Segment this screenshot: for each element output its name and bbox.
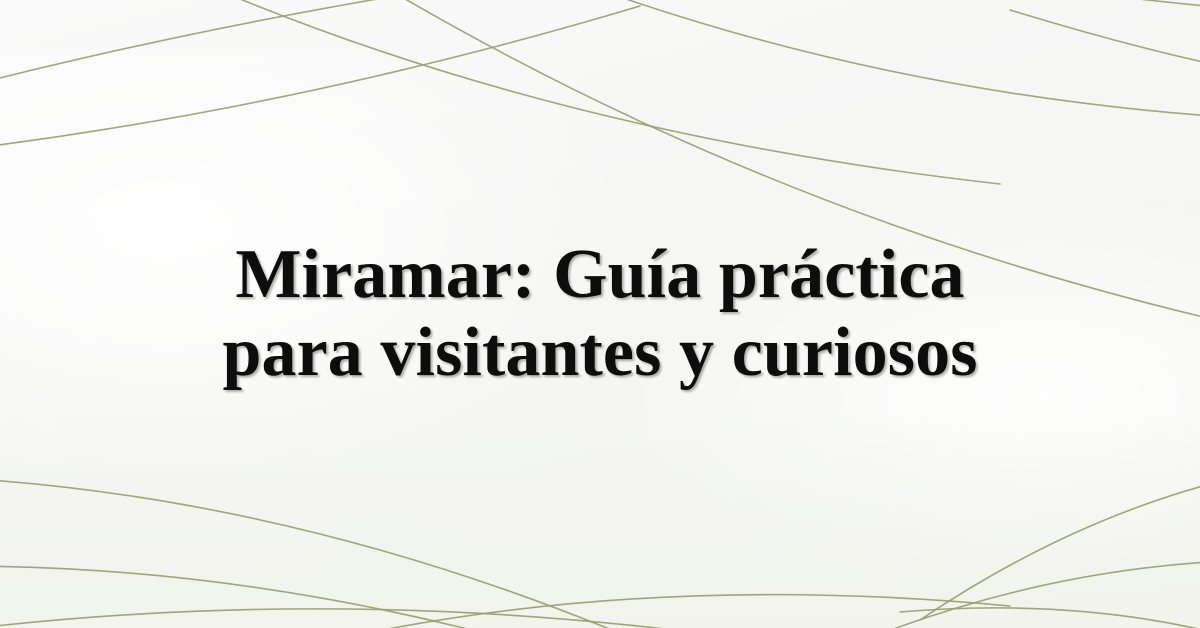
title-line-1: Miramar: Guía práctica [222, 236, 977, 314]
title-block: Miramar: Guía práctica para visitantes y… [0, 0, 1200, 628]
title-line-2: para visitantes y curiosos [222, 314, 977, 392]
page-title: Miramar: Guía práctica para visitantes y… [222, 236, 977, 393]
title-card: Miramar: Guía práctica para visitantes y… [0, 0, 1200, 628]
